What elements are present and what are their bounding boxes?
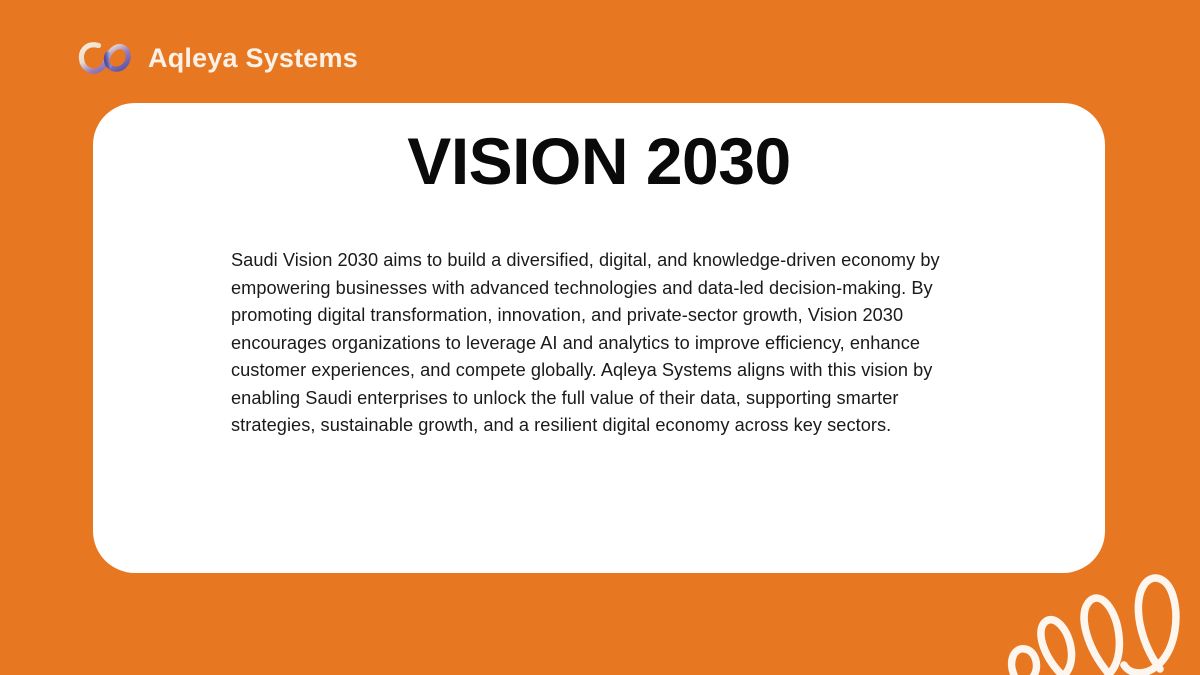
content-card: VISION 2030 Saudi Vision 2030 aims to bu… bbox=[93, 103, 1105, 573]
brand-lockup: Aqleya Systems bbox=[78, 38, 358, 78]
brand-name: Aqleya Systems bbox=[148, 45, 358, 72]
page-title: VISION 2030 bbox=[93, 125, 1105, 199]
vision-description-paragraph: Saudi Vision 2030 aims to build a divers… bbox=[231, 247, 955, 440]
infinity-loop-icon bbox=[78, 38, 132, 78]
